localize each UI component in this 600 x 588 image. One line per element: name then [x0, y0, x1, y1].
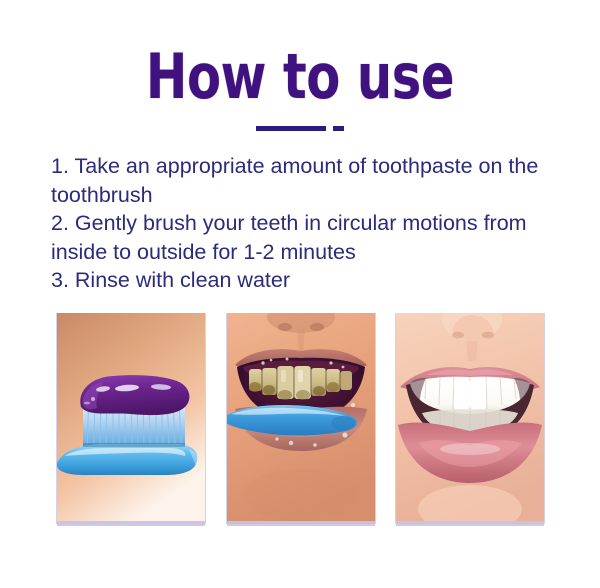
photo-row	[57, 313, 544, 525]
instruction-step: 1. Take an appropriate amount of toothpa…	[51, 152, 581, 209]
title-block: How to use	[0, 46, 600, 108]
title-divider	[0, 126, 600, 131]
instruction-step: 3. Rinse with clean water	[51, 266, 581, 295]
instruction-step: 2. Gently brush your teeth in circular m…	[51, 209, 581, 266]
divider-bar-short	[333, 126, 344, 131]
instruction-steps-list: 1. Take an appropriate amount of toothpa…	[51, 152, 581, 295]
toothbrush-with-paste-photo	[57, 313, 205, 524]
white-smile-photo	[396, 313, 544, 524]
stained-teeth-brushing-photo	[227, 313, 375, 524]
divider-bar-long	[256, 126, 326, 131]
page-title: How to use	[60, 46, 540, 108]
